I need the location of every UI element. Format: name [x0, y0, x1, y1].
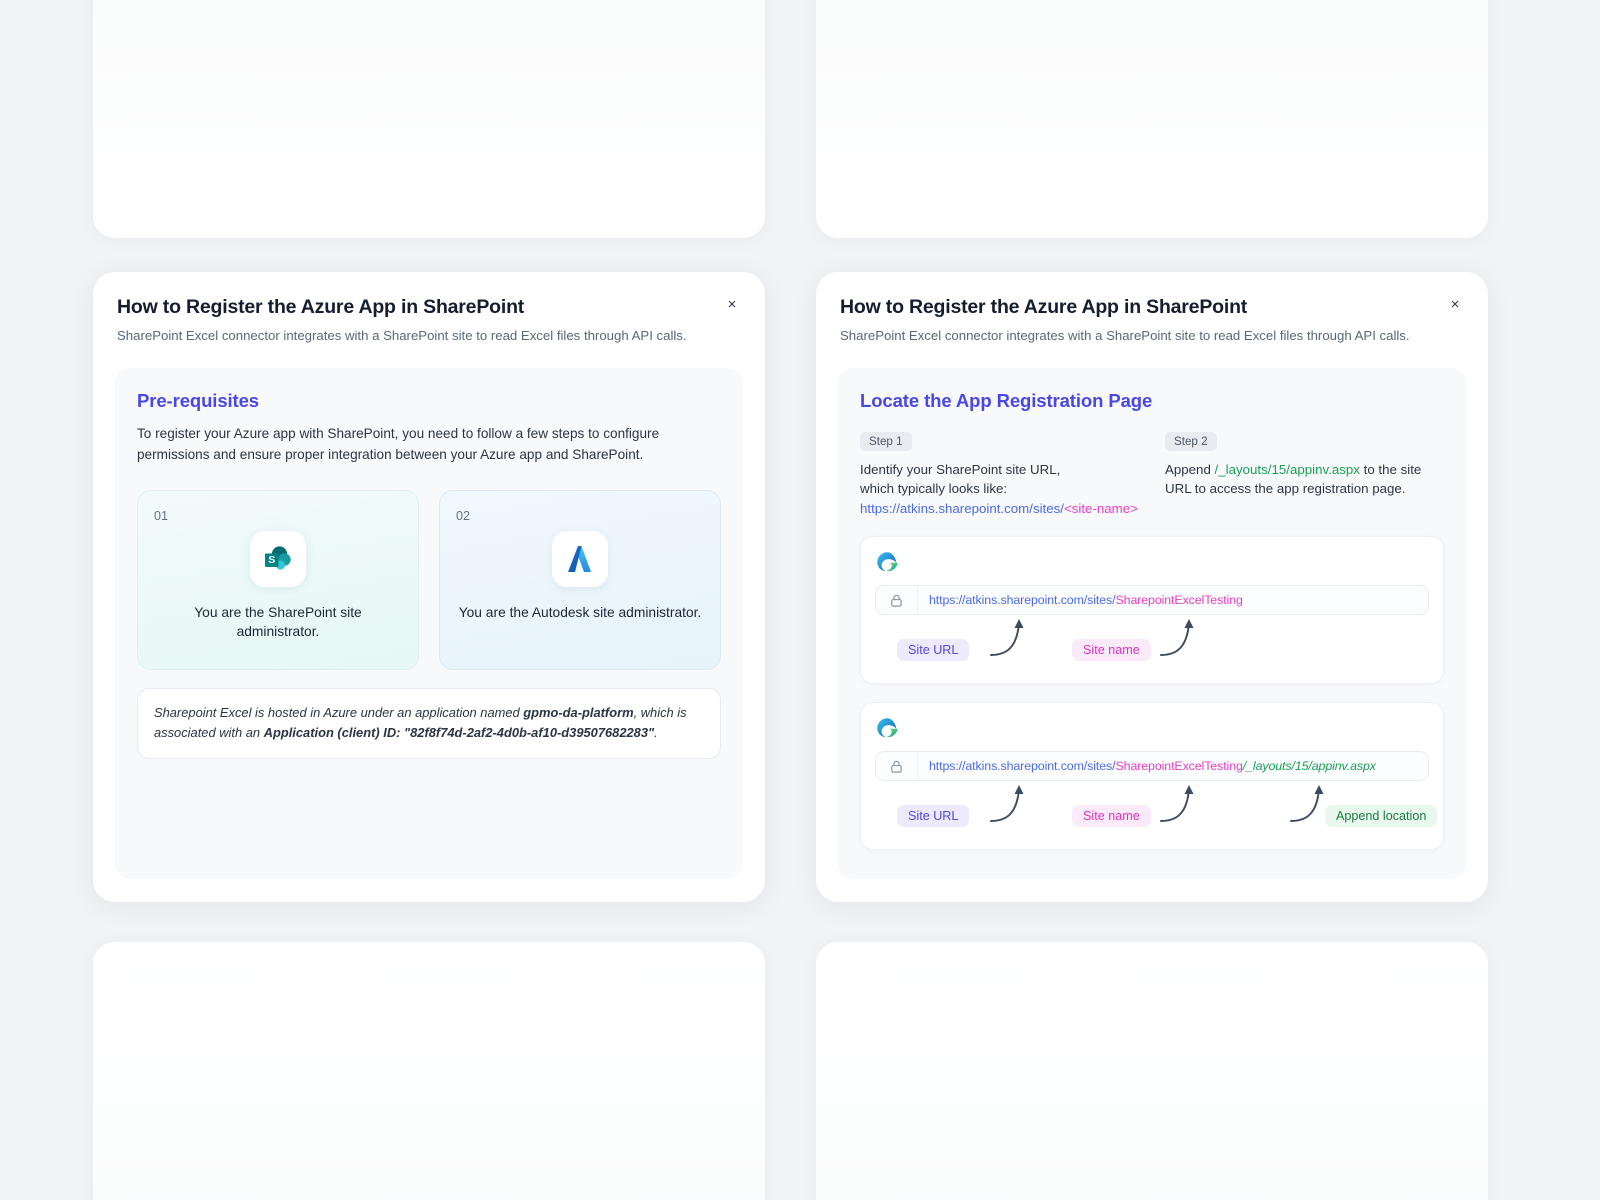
- page-title: How to Register the Azure App in SharePo…: [840, 296, 1464, 319]
- arrow-icon: [985, 781, 1055, 831]
- annotation-site-name: Site name: [1072, 639, 1151, 661]
- close-icon[interactable]: ×: [721, 293, 743, 315]
- arrow-icon: [1155, 781, 1225, 831]
- arrow-icon: [1155, 615, 1225, 665]
- page-root: How to Register the Azure App in SharePo…: [0, 0, 1600, 1200]
- panel-header-left: How to Register the Azure App in SharePo…: [93, 272, 765, 346]
- prerequisites-section: Pre-requisites To register your Azure ap…: [115, 368, 743, 879]
- page-subtitle: SharePoint Excel connector integrates wi…: [117, 327, 741, 345]
- prerequisite-text: You are the Autodesk site administrator.: [456, 603, 704, 623]
- annotation-site-url: Site URL: [897, 639, 969, 661]
- close-icon[interactable]: ×: [1444, 293, 1466, 315]
- prerequisites-panel: How to Register the Azure App in SharePo…: [93, 272, 765, 902]
- ghost-card-top-left: [93, 0, 765, 238]
- url-site-name: SharepointExcelTesting: [1115, 593, 1242, 607]
- section-title-locate: Locate the App Registration Page: [860, 390, 1444, 412]
- url-bar[interactable]: https://atkins.sharepoint.com/sites/Shar…: [875, 585, 1429, 615]
- step-1: Step 1 Identify your SharePoint site URL…: [860, 432, 1139, 518]
- prerequisite-number: 01: [154, 509, 402, 523]
- note-client-id: Application (client) ID: "82f8f74d-2af2-…: [264, 725, 654, 740]
- note-text-3: .: [654, 725, 658, 740]
- arrow-icon: [985, 615, 1055, 665]
- ghost-card-bottom-right: [816, 942, 1488, 1200]
- url-text: https://atkins.sharepoint.com/sites/Shar…: [918, 759, 1376, 773]
- ghost-card-top-right: [816, 0, 1488, 238]
- hosting-note: Sharepoint Excel is hosted in Azure unde…: [137, 688, 721, 759]
- azure-icon: [552, 531, 608, 587]
- step-2: Step 2 Append /_layouts/15/appinv.aspx t…: [1165, 432, 1444, 518]
- lock-icon: [876, 586, 918, 614]
- prerequisite-number: 02: [456, 509, 704, 523]
- annotation-append-location: Append location: [1325, 805, 1437, 827]
- step1-line2: which typically looks like:: [860, 481, 1007, 496]
- step1-url-base: https://atkins.sharepoint.com/sites/: [860, 501, 1064, 516]
- url-bar[interactable]: https://atkins.sharepoint.com/sites/Shar…: [875, 751, 1429, 781]
- section-title-prerequisites: Pre-requisites: [137, 390, 721, 412]
- step-text: Identify your SharePoint site URL, which…: [860, 460, 1139, 518]
- step-badge: Step 2: [1165, 432, 1217, 451]
- annotation-site-name: Site name: [1072, 805, 1151, 827]
- section-body-prerequisites: To register your Azure app with SharePoi…: [137, 424, 721, 466]
- prerequisite-card-2: 02: [439, 490, 721, 670]
- step1-url-placeholder: <site-name>: [1064, 501, 1138, 516]
- step-text: Append /_layouts/15/appinv.aspx to the s…: [1165, 460, 1444, 499]
- prerequisite-text: You are the SharePoint site administrato…: [154, 603, 402, 642]
- svg-text:S: S: [268, 554, 275, 566]
- url-site-name: SharepointExcelTesting: [1115, 759, 1242, 773]
- ghost-card-bottom-left: [93, 942, 765, 1200]
- browser-mockup-2: https://atkins.sharepoint.com/sites/Shar…: [860, 702, 1444, 850]
- note-app-name: gpmo-da-platform: [523, 705, 633, 720]
- prerequisite-cards: 01 S You are the SharePoint site adminis…: [137, 490, 721, 670]
- prerequisite-card-1: 01 S You are the SharePoint site adminis…: [137, 490, 419, 670]
- note-text-1: Sharepoint Excel is hosted in Azure unde…: [154, 705, 523, 720]
- annotations-row-2: Site URL Site name Append location: [875, 787, 1429, 833]
- step1-line1: Identify your SharePoint site URL,: [860, 462, 1060, 477]
- step-badge: Step 1: [860, 432, 912, 451]
- locate-registration-section: Locate the App Registration Page Step 1 …: [838, 368, 1466, 879]
- page-title: How to Register the Azure App in SharePo…: [117, 296, 741, 319]
- annotations-row-1: Site URL Site name: [875, 621, 1429, 667]
- edge-icon: [875, 550, 1429, 574]
- url-append-path: /_layouts/15/appinv.aspx: [1243, 759, 1376, 773]
- page-subtitle: SharePoint Excel connector integrates wi…: [840, 327, 1464, 345]
- url-base: https://atkins.sharepoint.com/sites/: [929, 593, 1115, 607]
- browser-mockup-1: https://atkins.sharepoint.com/sites/Shar…: [860, 536, 1444, 684]
- edge-icon: [875, 716, 1429, 740]
- sharepoint-icon: S: [250, 531, 306, 587]
- url-text: https://atkins.sharepoint.com/sites/Shar…: [918, 593, 1243, 607]
- app-registration-panel: How to Register the Azure App in SharePo…: [816, 272, 1488, 902]
- lock-icon: [876, 752, 918, 780]
- annotation-site-url: Site URL: [897, 805, 969, 827]
- panel-header-right: How to Register the Azure App in SharePo…: [816, 272, 1488, 346]
- step2-code: /_layouts/15/appinv.aspx: [1215, 462, 1360, 477]
- url-base: https://atkins.sharepoint.com/sites/: [929, 759, 1115, 773]
- step2-prefix: Append: [1165, 462, 1215, 477]
- steps-row: Step 1 Identify your SharePoint site URL…: [860, 432, 1444, 518]
